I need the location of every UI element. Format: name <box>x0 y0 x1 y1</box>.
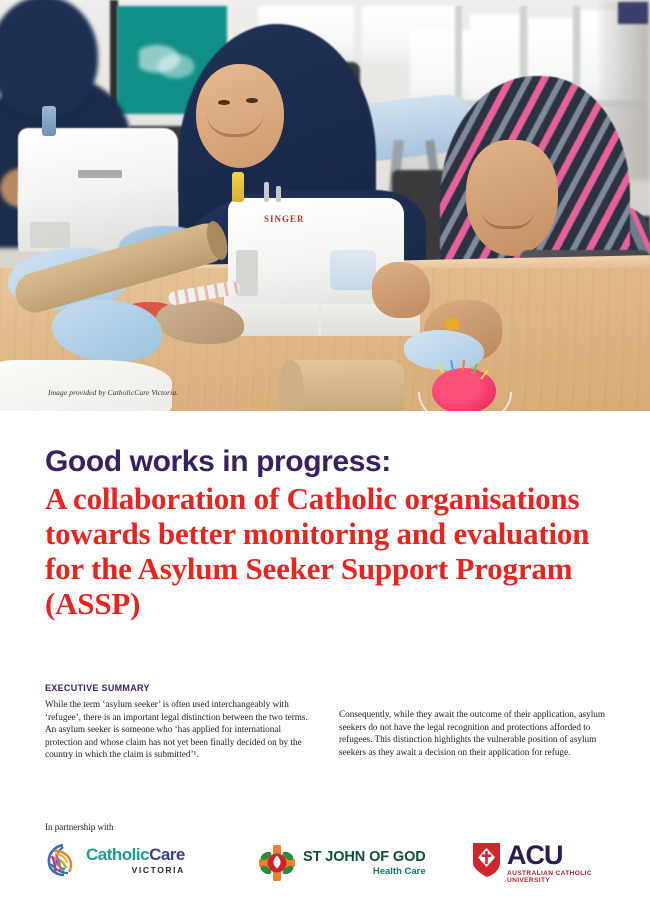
person-center-face <box>196 64 284 168</box>
partners-section: In partnership with <box>45 822 607 900</box>
logo-st-john-of-god[interactable]: ST JOHN OF GOD Health Care <box>258 844 426 882</box>
loose-thread <box>418 392 512 411</box>
logo-st-john-of-god-subtitle: Health Care <box>303 867 426 877</box>
executive-summary-paragraph: Consequently, while they await the outco… <box>339 708 606 758</box>
hanging-thread <box>318 292 321 336</box>
photo-scene: SINGER Image provided by CatholicCare <box>0 0 650 411</box>
executive-summary-column-left: While the term ‘asylum seeker’ is often … <box>45 698 312 761</box>
logo-catholiccare-subtitle: VICTORIA <box>86 866 185 875</box>
sewing-machine-left-panel <box>30 222 70 248</box>
white-paper <box>0 360 172 411</box>
gold-ring <box>445 318 459 330</box>
logo-st-john-of-god-text: ST JOHN OF GOD Health Care <box>303 850 426 877</box>
person-right-face <box>466 140 558 256</box>
spool-pin <box>276 186 281 202</box>
logo-catholiccare-name: CatholicCare <box>86 845 185 864</box>
logo-acu-name: ACU <box>507 842 607 869</box>
logo-catholiccare-text: CatholicCare VICTORIA <box>86 846 185 875</box>
logo-acu-subtitle: AUSTRALIAN CATHOLIC UNIVERSITY <box>507 871 607 884</box>
logo-acu-text: ACU AUSTRALIAN CATHOLIC UNIVERSITY <box>507 842 607 884</box>
page-title-sub: A collaboration of Catholic organisation… <box>45 481 605 621</box>
sewing-machine-needle-area <box>330 250 376 290</box>
paper-tube <box>284 360 404 411</box>
partners-label: In partnership with <box>45 822 607 832</box>
executive-summary-columns: While the term ‘asylum seeker’ is often … <box>45 698 607 761</box>
spool-pin <box>264 182 269 202</box>
pomegranate-cross-icon <box>258 844 296 882</box>
petal-swoosh-icon <box>45 842 81 878</box>
wall-poster <box>618 2 648 24</box>
logo-catholiccare-victoria[interactable]: CatholicCare VICTORIA <box>45 842 185 878</box>
executive-summary-paragraph: While the term ‘asylum seeker’ is often … <box>45 698 312 761</box>
cover-photo: SINGER Image provided by CatholicCare <box>0 0 650 411</box>
pin <box>480 370 488 380</box>
title-block: Good works in progress: A collaboration … <box>45 445 605 621</box>
photo-caption: Image provided by CatholicCare Victoria. <box>48 388 178 397</box>
executive-summary-column-right: Consequently, while they await the outco… <box>339 698 606 761</box>
page-title-main: Good works in progress: <box>45 445 605 479</box>
eye <box>218 100 230 105</box>
person-left-head <box>0 0 98 116</box>
thread-spool <box>42 106 56 136</box>
logo-st-john-of-god-name: ST JOHN OF GOD <box>303 850 426 865</box>
person-right-hand <box>372 262 430 318</box>
logo-name-part-1: Catholic <box>86 845 149 864</box>
logo-name-part-2: Care <box>149 845 185 864</box>
acu-shield-icon <box>472 842 501 878</box>
thread-spool <box>232 172 244 202</box>
machine-brand-label: SINGER <box>264 214 305 224</box>
eye <box>246 98 258 103</box>
partner-logo-row: CatholicCare VICTORIA <box>45 842 607 900</box>
executive-summary-section: EXECUTIVE SUMMARY While the term ‘asylum… <box>45 683 607 761</box>
logo-australian-catholic-university[interactable]: ACU AUSTRALIAN CATHOLIC UNIVERSITY <box>472 842 607 884</box>
executive-summary-heading: EXECUTIVE SUMMARY <box>45 683 607 693</box>
sewing-machine-left-label <box>78 170 122 178</box>
